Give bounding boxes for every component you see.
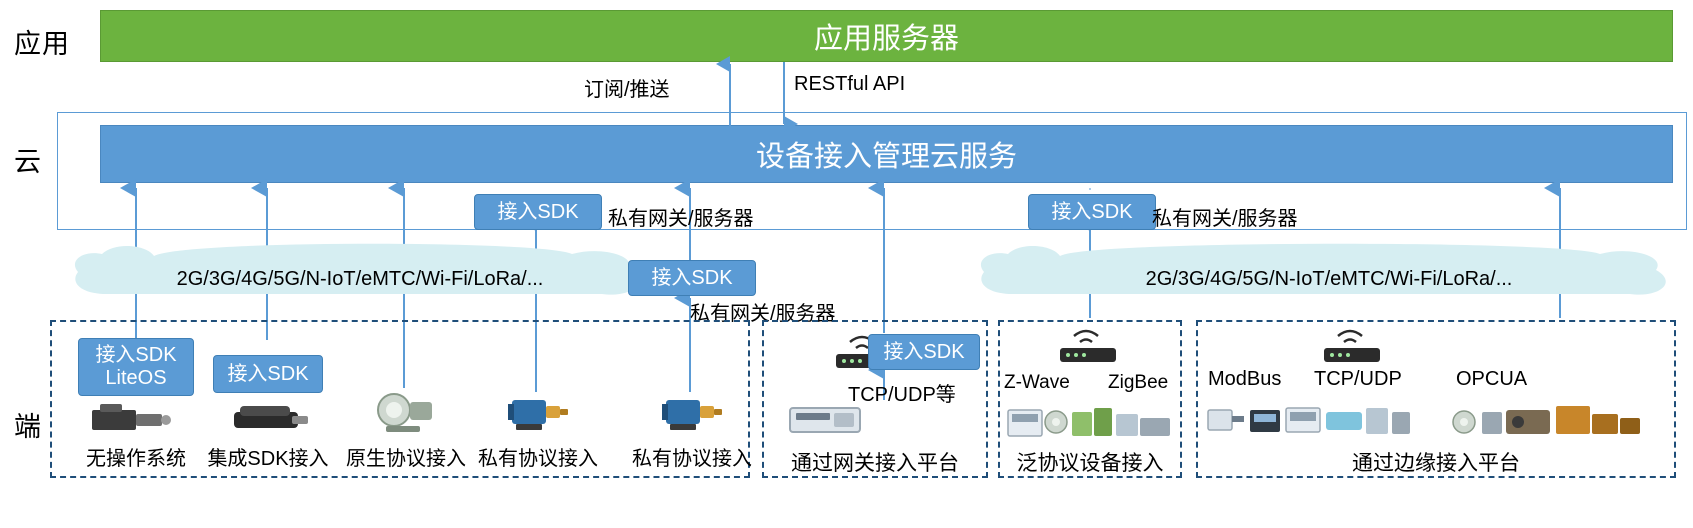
zigbee-label: ZigBee xyxy=(1108,372,1168,394)
zwave-label: Z-Wave xyxy=(1004,372,1070,394)
module-device-icon xyxy=(226,398,316,438)
sdk-chip-label-line1: 接入SDK xyxy=(95,344,176,367)
device-group-gateway-label: 通过网关接入平台 xyxy=(762,447,988,477)
router-icon-pan-protocol xyxy=(1052,326,1132,368)
device-caption-integrated-sdk: 集成SDK接入 xyxy=(198,442,338,471)
motor-device-icon-2 xyxy=(656,390,728,438)
network-cloud-left-label: 2G/3G/4G/5G/N-IoT/eMTC/Wi-Fi/LoRa/... xyxy=(80,268,640,291)
modbus-label: ModBus xyxy=(1208,368,1281,391)
sdk-chip-label-line2: LiteOS xyxy=(105,367,166,390)
sdk-chip-private-gw-3: 接入SDK xyxy=(628,260,756,296)
tcp-udp-label: TCP/UDP xyxy=(1314,368,1402,391)
meter-device-icon xyxy=(368,388,444,438)
pan-protocol-devices-icon xyxy=(1006,398,1178,442)
private-gateway-label-1: 私有网关/服务器 xyxy=(608,202,754,231)
edge-devices-icon xyxy=(1206,396,1676,442)
router-icon-edge xyxy=(1316,326,1396,368)
opcua-label: OPCUA xyxy=(1456,368,1527,391)
private-gateway-label-2: 私有网关/服务器 xyxy=(1152,202,1298,231)
device-group-edge-label: 通过边缘接入平台 xyxy=(1196,447,1676,477)
device-caption-native-protocol: 原生协议接入 xyxy=(334,442,478,471)
sdk-chip-label: 接入SDK xyxy=(651,267,732,290)
sdk-chip-liteos: 接入SDK LiteOS xyxy=(78,338,194,396)
sdk-chip-label: 接入SDK xyxy=(497,201,578,224)
sdk-chip-gateway: 接入SDK xyxy=(868,334,980,370)
sdk-chip-label: 接入SDK xyxy=(883,341,964,364)
edge-sdk-connector xyxy=(1052,190,1128,230)
architecture-diagram: 应用 云 端 应用服务器 设备接入管理云服务 订阅/推送 RESTful API xyxy=(0,0,1693,528)
terminal-device-icon-gateway xyxy=(782,398,876,440)
device-caption-no-os: 无操作系统 xyxy=(66,442,206,471)
network-cloud-right-label: 2G/3G/4G/5G/N-IoT/eMTC/Wi-Fi/LoRa/... xyxy=(984,268,1674,291)
sensor-device-icon-1 xyxy=(86,398,186,438)
sdk-chip-label: 接入SDK xyxy=(227,363,308,386)
sdk-chip-private-gw-1: 接入SDK xyxy=(474,194,602,230)
sdk-chip-integrated: 接入SDK xyxy=(213,355,323,393)
device-group-pan-protocol-label: 泛协议设备接入 xyxy=(998,447,1182,477)
device-caption-private-protocol-2: 私有协议接入 xyxy=(620,442,764,471)
motor-device-icon-1 xyxy=(502,390,574,438)
device-caption-private-protocol-1: 私有协议接入 xyxy=(466,442,610,471)
